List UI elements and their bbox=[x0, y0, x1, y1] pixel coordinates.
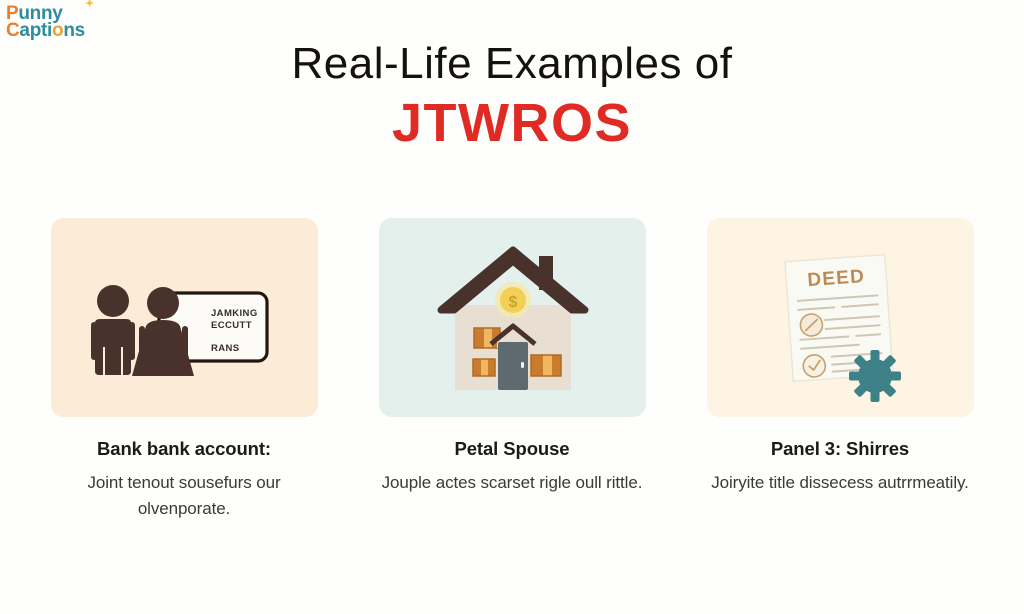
deed-document-with-seal-icon: DEED bbox=[707, 218, 974, 417]
caption-body: Jouple actes scarset rigle oull rittle. bbox=[381, 470, 643, 496]
couple-with-bank-card-icon: JAMKING ECCUTT RANS bbox=[51, 218, 318, 417]
coin-symbol: $ bbox=[508, 294, 517, 311]
card-deed-title[interactable]: DEED bbox=[707, 218, 974, 523]
logo-text-unny: unny bbox=[18, 3, 62, 24]
title-line-primary: Real-Life Examples of bbox=[0, 38, 1024, 90]
example-cards-row: JAMKING ECCUTT RANS bbox=[0, 218, 1024, 523]
brand-logo[interactable]: Punny ✦ Captions bbox=[6, 4, 85, 40]
deed-stamp-upper-icon bbox=[799, 313, 822, 336]
thumbnail-deed-title: DEED bbox=[707, 218, 974, 417]
page-title: Real-Life Examples of JTWROS bbox=[0, 38, 1024, 156]
card-text-line3: RANS bbox=[211, 343, 240, 354]
deed-stamp-lower-icon bbox=[802, 354, 825, 377]
door-handle-icon bbox=[521, 362, 524, 368]
house-with-dollar-coin-icon: $ bbox=[379, 218, 646, 417]
card-spouse-house[interactable]: $ bbox=[379, 218, 646, 523]
card-text-line2: ECCUTT bbox=[211, 320, 252, 331]
thumbnail-bank-account: JAMKING ECCUTT RANS bbox=[51, 218, 318, 417]
caption-deed-title: Panel 3: Shirres Joiryite title disseces… bbox=[709, 437, 971, 496]
caption-body: Joiryite title dissecess autrrmeatily. bbox=[709, 470, 971, 496]
teal-gear-seal-icon bbox=[849, 350, 901, 402]
logo-line-punny: Punny ✦ bbox=[6, 4, 85, 23]
logo-letter-p: P bbox=[6, 3, 18, 24]
title-line-acronym: JTWROS bbox=[0, 92, 1024, 156]
caption-title: Panel 3: Shirres bbox=[709, 437, 971, 461]
caption-title: Petal Spouse bbox=[381, 437, 643, 461]
caption-body: Joint tenout sousefurs our olvenporate. bbox=[53, 470, 315, 523]
deed-heading: DEED bbox=[806, 266, 865, 291]
card-bank-account[interactable]: JAMKING ECCUTT RANS bbox=[51, 218, 318, 523]
star-icon: ✦ bbox=[85, 0, 94, 10]
caption-spouse-house: Petal Spouse Jouple actes scarset rigle … bbox=[381, 437, 643, 496]
caption-bank-account: Bank bank account: Joint tenout sousefur… bbox=[53, 437, 315, 523]
caption-title: Bank bank account: bbox=[53, 437, 315, 461]
man-figure-icon bbox=[91, 285, 135, 375]
card-text-line1: JAMKING bbox=[211, 308, 258, 319]
thumbnail-spouse-house: $ bbox=[379, 218, 646, 417]
